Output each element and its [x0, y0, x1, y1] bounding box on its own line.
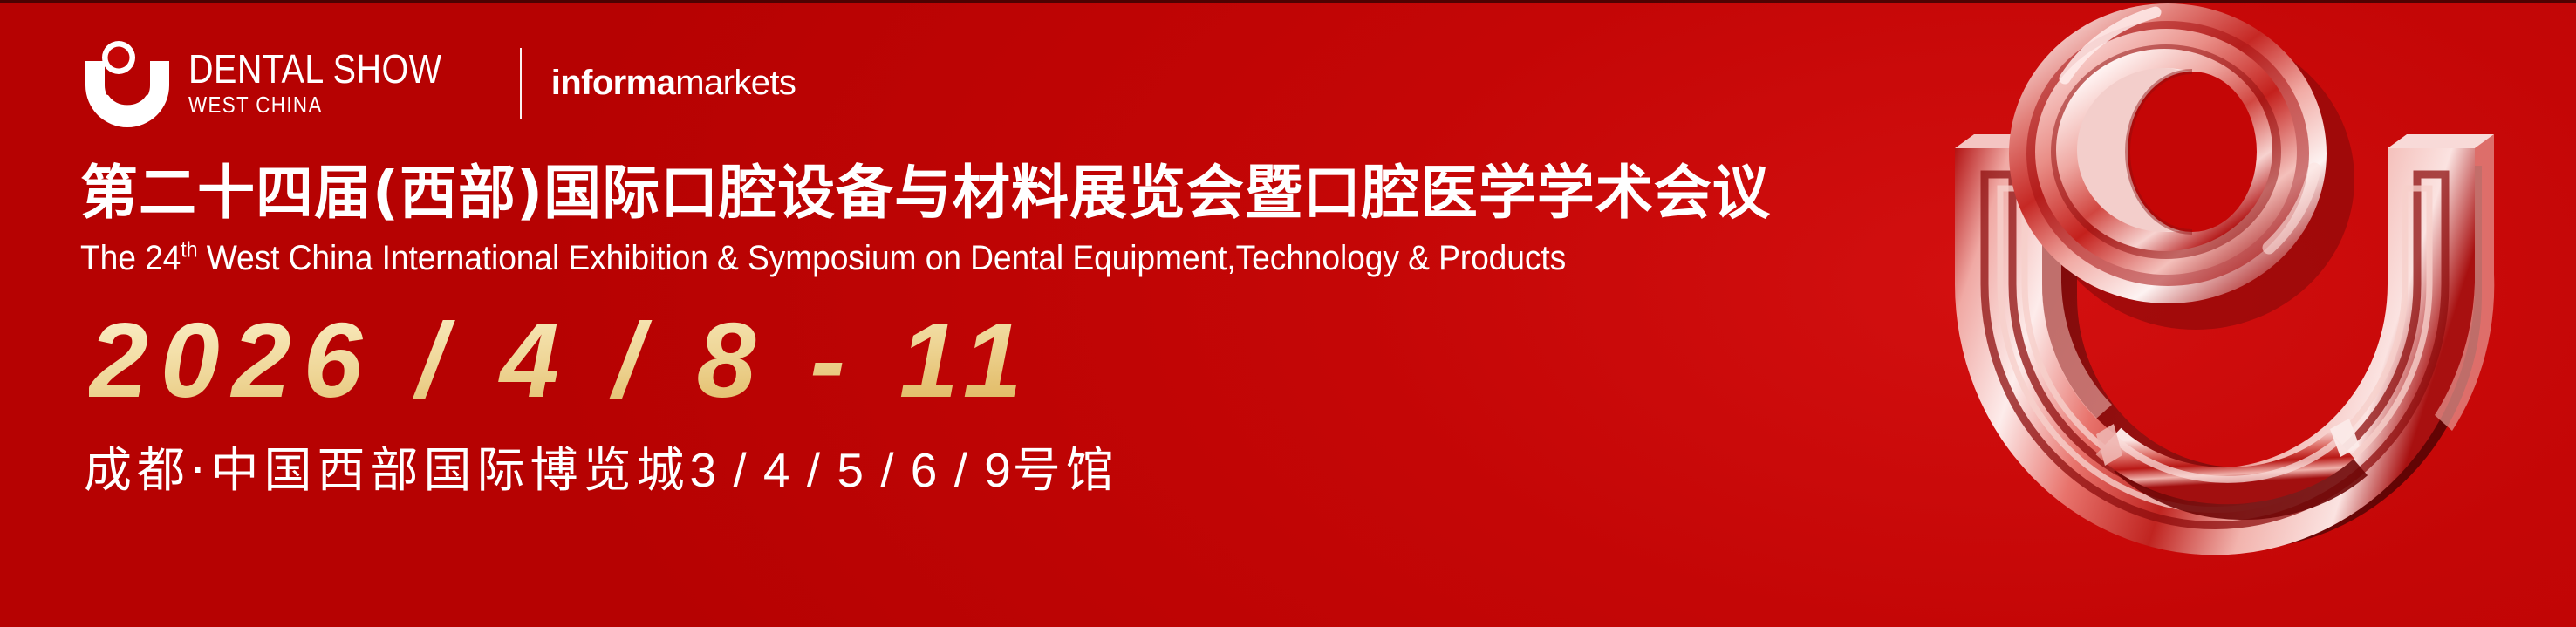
informa-markets-logo: informamarkets [551, 65, 796, 102]
venue-halls-suffix: 号馆 [1013, 442, 1119, 498]
wordmark-primary: DENTAL SHOW [188, 49, 441, 90]
venue-location: 成都·中国西部国际博览城 [84, 442, 689, 498]
dental-smile-3d-mark-icon [1894, 0, 2576, 627]
logo-lockup: DENTAL SHOW WEST CHINA informamarkets [80, 38, 796, 129]
wordmark-secondary: WEST CHINA [188, 92, 441, 118]
logo-divider [520, 48, 522, 119]
event-venue: 成都·中国西部国际博览城3 / 4 / 5 / 6 / 9号馆 [84, 446, 1119, 494]
dental-smile-mark-icon [80, 38, 174, 129]
english-title-rest: West China International Exhibition & Sy… [197, 239, 1566, 277]
venue-halls: 3 / 4 / 5 / 6 / 9 [689, 443, 1012, 497]
event-date: 2026 / 4 / 8 - 11 [89, 307, 1035, 413]
banner-content: DENTAL SHOW WEST CHINA informamarkets 第二… [80, 0, 1877, 627]
ordinal-suffix: th [181, 238, 197, 262]
event-banner: DENTAL SHOW WEST CHINA informamarkets 第二… [0, 0, 2576, 627]
informa-bold-text: informa [551, 64, 675, 102]
markets-regular-text: markets [675, 64, 796, 102]
dental-show-wordmark: DENTAL SHOW WEST CHINA [188, 38, 483, 129]
chinese-event-title: 第二十四届(西部)国际口腔设备与材料展览会暨口腔医学学术会议 [80, 164, 1771, 222]
english-event-title: The 24th West China International Exhibi… [80, 241, 1566, 276]
english-title-prefix: The 24 [80, 239, 181, 277]
